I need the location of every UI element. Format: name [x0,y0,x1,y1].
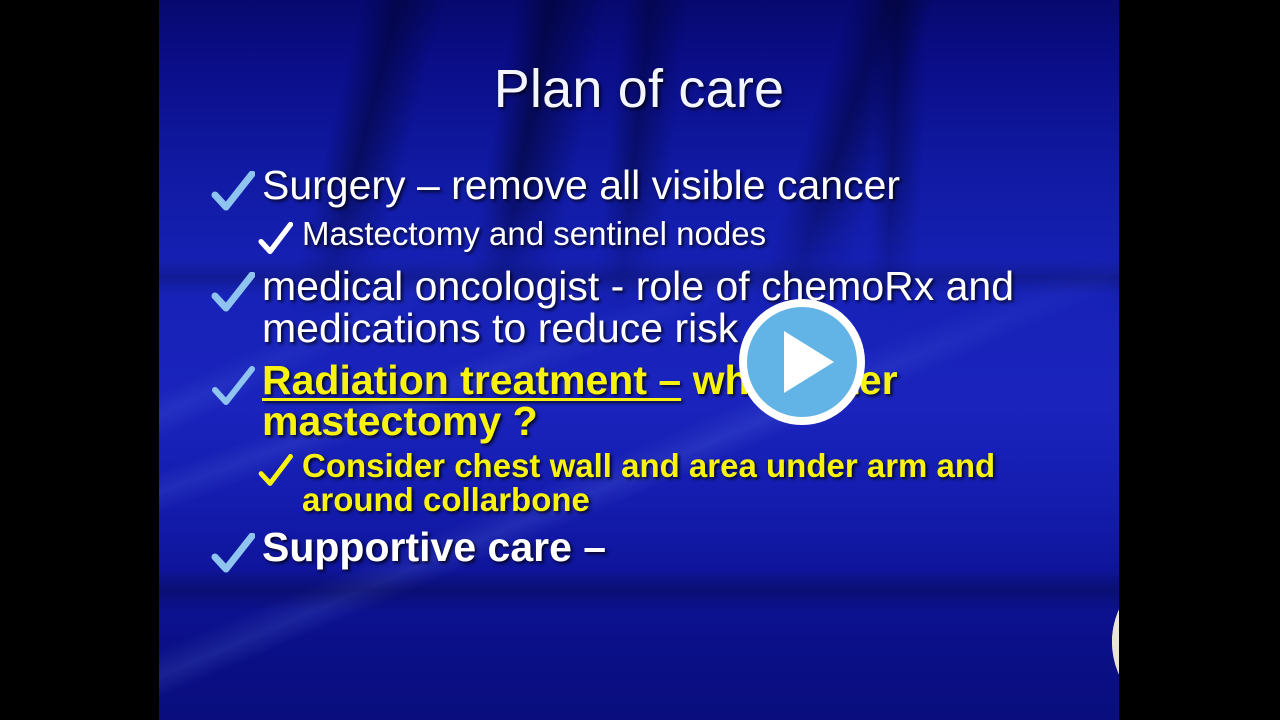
slide-title: Plan of care [159,58,1119,120]
bullet-item-medical-oncologist: medical oncologist - role of chemoRx and… [211,266,1111,350]
webcam-shirt [1112,686,1119,720]
slide-content: Plan of care Surgery – remove all visibl… [159,0,1119,720]
letterbox-bar-left [0,0,159,720]
play-triangle-icon [784,331,834,393]
letterbox-bar-right [1119,0,1280,720]
check-icon-blue [211,366,255,410]
check-icon-blue [211,272,255,316]
presenter-webcam-thumbnail[interactable] [1112,563,1119,720]
bullet-text-medical-oncologist: medical oncologist - role of chemoRx and… [262,266,1111,350]
bullet-item-consider: Consider chest wall and area under arm a… [257,449,1111,516]
bullet-item-supportive-care: Supportive care – [211,527,1111,577]
check-icon-blue [211,171,255,215]
bullet-text-mastectomy: Mastectomy and sentinel nodes [302,217,1111,251]
check-icon-blue [211,533,255,577]
bullet-text-supportive-care: Supportive care – [262,527,1111,569]
bullet-item-mastectomy: Mastectomy and sentinel nodes [257,217,1111,258]
bullet-text-consider: Consider chest wall and area under arm a… [302,449,1111,516]
bullet-item-radiation: Radiation treatment – when after mastect… [211,360,1111,444]
bullet-item-surgery: Surgery – remove all visible cancer [211,165,1111,215]
check-icon-white [257,222,293,258]
bullet-text-surgery: Surgery – remove all visible cancer [262,165,1111,207]
play-button[interactable] [739,299,865,425]
slide-stage: Plan of care Surgery – remove all visibl… [159,0,1119,720]
check-icon-yellow [257,454,293,490]
bullet-list: Surgery – remove all visible cancer Mast… [211,165,1111,579]
video-player[interactable]: Plan of care Surgery – remove all visibl… [0,0,1280,720]
bullet-text-radiation-underlined: Radiation treatment – [262,357,681,403]
bullet-text-radiation: Radiation treatment – when after mastect… [262,360,1111,444]
